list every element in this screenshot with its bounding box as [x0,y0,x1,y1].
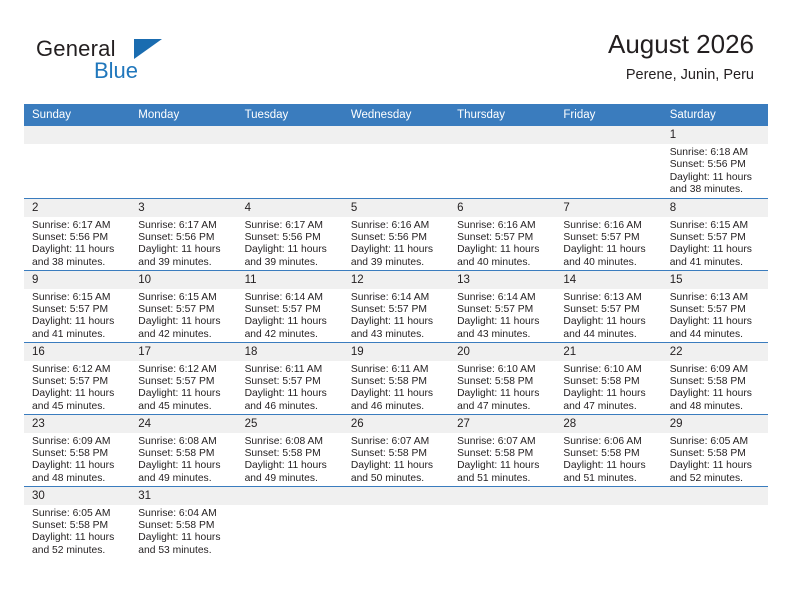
daylight-text-line1: Daylight: 11 hours [457,460,549,472]
page-header: General Blue August 2026 Perene, Junin, … [24,28,768,96]
calendar-cell-inner: 10Sunrise: 6:15 AMSunset: 5:57 PMDayligh… [130,271,236,342]
calendar-cell-inner: 21Sunrise: 6:10 AMSunset: 5:58 PMDayligh… [555,343,661,414]
calendar-cell-inner [237,487,343,559]
sunrise-text: Sunrise: 6:17 AM [138,220,230,232]
day-number: 30 [24,487,130,505]
daylight-text-line2: and 41 minutes. [32,329,124,341]
calendar-table: Sunday Monday Tuesday Wednesday Thursday… [24,104,768,558]
calendar-day-cell[interactable]: 5Sunrise: 6:16 AMSunset: 5:56 PMDaylight… [343,198,449,270]
day-details: Sunrise: 6:07 AMSunset: 5:58 PMDaylight:… [343,433,449,486]
day-details: Sunrise: 6:17 AMSunset: 5:56 PMDaylight:… [130,217,236,270]
calendar-cell-empty [237,486,343,558]
calendar-cell-empty [555,126,661,198]
daylight-text-line2: and 51 minutes. [563,473,655,485]
sunset-text: Sunset: 5:58 PM [670,376,762,388]
sunset-text: Sunset: 5:57 PM [32,304,124,316]
daylight-text-line1: Daylight: 11 hours [138,316,230,328]
day-number: 2 [24,199,130,217]
calendar-page: General Blue August 2026 Perene, Junin, … [0,0,792,612]
daylight-text-line1: Daylight: 11 hours [563,316,655,328]
day-details: Sunrise: 6:14 AMSunset: 5:57 PMDaylight:… [449,289,555,342]
calendar-cell-inner [555,487,661,559]
daylight-text-line1: Daylight: 11 hours [351,460,443,472]
calendar-day-cell[interactable]: 14Sunrise: 6:13 AMSunset: 5:57 PMDayligh… [555,270,661,342]
calendar-week-row: 30Sunrise: 6:05 AMSunset: 5:58 PMDayligh… [24,486,768,558]
sunset-text: Sunset: 5:57 PM [245,304,337,316]
sunset-text: Sunset: 5:57 PM [138,304,230,316]
daylight-text-line2: and 43 minutes. [457,329,549,341]
calendar-week-row: 2Sunrise: 6:17 AMSunset: 5:56 PMDaylight… [24,198,768,270]
sunset-text: Sunset: 5:56 PM [670,159,762,171]
day-details: Sunrise: 6:10 AMSunset: 5:58 PMDaylight:… [449,361,555,414]
calendar-day-cell[interactable]: 30Sunrise: 6:05 AMSunset: 5:58 PMDayligh… [24,486,130,558]
calendar-day-cell[interactable]: 21Sunrise: 6:10 AMSunset: 5:58 PMDayligh… [555,342,661,414]
calendar-cell-inner: 20Sunrise: 6:10 AMSunset: 5:58 PMDayligh… [449,343,555,414]
page-subtitle: Perene, Junin, Peru [608,64,754,86]
sunset-text: Sunset: 5:57 PM [457,232,549,244]
sunset-text: Sunset: 5:56 PM [351,232,443,244]
calendar-cell-inner: 30Sunrise: 6:05 AMSunset: 5:58 PMDayligh… [24,487,130,559]
calendar-day-cell[interactable]: 27Sunrise: 6:07 AMSunset: 5:58 PMDayligh… [449,414,555,486]
calendar-cell-inner: 3Sunrise: 6:17 AMSunset: 5:56 PMDaylight… [130,199,236,270]
day-details: Sunrise: 6:14 AMSunset: 5:57 PMDaylight:… [237,289,343,342]
day-number [449,487,555,505]
weekday-header-monday: Monday [130,104,236,126]
calendar-day-cell[interactable]: 28Sunrise: 6:06 AMSunset: 5:58 PMDayligh… [555,414,661,486]
sunset-text: Sunset: 5:56 PM [245,232,337,244]
daylight-text-line2: and 42 minutes. [138,329,230,341]
daylight-text-line2: and 51 minutes. [457,473,549,485]
title-block: August 2026 Perene, Junin, Peru [608,28,754,86]
daylight-text-line1: Daylight: 11 hours [670,172,762,184]
calendar-cell-inner: 5Sunrise: 6:16 AMSunset: 5:56 PMDaylight… [343,199,449,270]
sunset-text: Sunset: 5:56 PM [32,232,124,244]
calendar-cell-inner: 16Sunrise: 6:12 AMSunset: 5:57 PMDayligh… [24,343,130,414]
sunrise-text: Sunrise: 6:16 AM [457,220,549,232]
calendar-day-cell[interactable]: 8Sunrise: 6:15 AMSunset: 5:57 PMDaylight… [662,198,768,270]
calendar-cell-empty [662,486,768,558]
daylight-text-line2: and 47 minutes. [563,401,655,413]
calendar-week-row: 23Sunrise: 6:09 AMSunset: 5:58 PMDayligh… [24,414,768,486]
calendar-cell-inner: 28Sunrise: 6:06 AMSunset: 5:58 PMDayligh… [555,415,661,486]
day-number [343,487,449,505]
day-number: 16 [24,343,130,361]
day-number: 28 [555,415,661,433]
calendar-cell-inner: 25Sunrise: 6:08 AMSunset: 5:58 PMDayligh… [237,415,343,486]
sunset-text: Sunset: 5:57 PM [351,304,443,316]
calendar-day-cell[interactable]: 10Sunrise: 6:15 AMSunset: 5:57 PMDayligh… [130,270,236,342]
calendar-cell-inner: 26Sunrise: 6:07 AMSunset: 5:58 PMDayligh… [343,415,449,486]
day-number: 10 [130,271,236,289]
day-number: 17 [130,343,236,361]
daylight-text-line1: Daylight: 11 hours [138,244,230,256]
daylight-text-line1: Daylight: 11 hours [32,244,124,256]
day-details: Sunrise: 6:06 AMSunset: 5:58 PMDaylight:… [555,433,661,486]
day-number: 13 [449,271,555,289]
calendar-day-cell[interactable]: 25Sunrise: 6:08 AMSunset: 5:58 PMDayligh… [237,414,343,486]
daylight-text-line1: Daylight: 11 hours [670,388,762,400]
calendar-day-cell[interactable]: 4Sunrise: 6:17 AMSunset: 5:56 PMDaylight… [237,198,343,270]
day-number: 27 [449,415,555,433]
day-number [130,126,236,144]
daylight-text-line1: Daylight: 11 hours [457,316,549,328]
day-details: Sunrise: 6:16 AMSunset: 5:57 PMDaylight:… [555,217,661,270]
sunset-text: Sunset: 5:58 PM [457,376,549,388]
calendar-day-cell[interactable]: 29Sunrise: 6:05 AMSunset: 5:58 PMDayligh… [662,414,768,486]
day-number: 22 [662,343,768,361]
day-details: Sunrise: 6:11 AMSunset: 5:57 PMDaylight:… [237,361,343,414]
calendar-cell-inner [24,126,130,198]
daylight-text-line2: and 39 minutes. [138,257,230,269]
weekday-header-friday: Friday [555,104,661,126]
daylight-text-line2: and 48 minutes. [32,473,124,485]
calendar-day-cell[interactable]: 23Sunrise: 6:09 AMSunset: 5:58 PMDayligh… [24,414,130,486]
sunrise-text: Sunrise: 6:12 AM [32,364,124,376]
day-number: 19 [343,343,449,361]
weekday-header-wednesday: Wednesday [343,104,449,126]
sunrise-text: Sunrise: 6:04 AM [138,508,230,520]
calendar-body: 1Sunrise: 6:18 AMSunset: 5:56 PMDaylight… [24,126,768,558]
daylight-text-line1: Daylight: 11 hours [245,244,337,256]
day-details: Sunrise: 6:15 AMSunset: 5:57 PMDaylight:… [130,289,236,342]
sunset-text: Sunset: 5:57 PM [670,232,762,244]
calendar-day-cell[interactable]: 20Sunrise: 6:10 AMSunset: 5:58 PMDayligh… [449,342,555,414]
calendar-cell-inner: 2Sunrise: 6:17 AMSunset: 5:56 PMDaylight… [24,199,130,270]
day-number [24,126,130,144]
sunset-text: Sunset: 5:58 PM [138,520,230,532]
calendar-cell-inner: 15Sunrise: 6:13 AMSunset: 5:57 PMDayligh… [662,271,768,342]
day-details: Sunrise: 6:16 AMSunset: 5:57 PMDaylight:… [449,217,555,270]
sunset-text: Sunset: 5:58 PM [563,376,655,388]
day-details: Sunrise: 6:13 AMSunset: 5:57 PMDaylight:… [555,289,661,342]
calendar-cell-inner: 23Sunrise: 6:09 AMSunset: 5:58 PMDayligh… [24,415,130,486]
daylight-text-line2: and 53 minutes. [138,545,230,557]
calendar-cell-inner [449,126,555,198]
daylight-text-line2: and 40 minutes. [457,257,549,269]
calendar-cell-inner: 14Sunrise: 6:13 AMSunset: 5:57 PMDayligh… [555,271,661,342]
sunset-text: Sunset: 5:58 PM [563,448,655,460]
daylight-text-line1: Daylight: 11 hours [245,388,337,400]
daylight-text-line1: Daylight: 11 hours [351,244,443,256]
weekday-header-thursday: Thursday [449,104,555,126]
sunrise-text: Sunrise: 6:05 AM [670,436,762,448]
brand-name-blue: Blue [94,58,138,84]
daylight-text-line2: and 50 minutes. [351,473,443,485]
day-number: 18 [237,343,343,361]
sunrise-text: Sunrise: 6:08 AM [138,436,230,448]
day-details: Sunrise: 6:09 AMSunset: 5:58 PMDaylight:… [662,361,768,414]
sunset-text: Sunset: 5:57 PM [245,376,337,388]
sunset-text: Sunset: 5:56 PM [138,232,230,244]
daylight-text-line2: and 49 minutes. [138,473,230,485]
day-details: Sunrise: 6:13 AMSunset: 5:57 PMDaylight:… [662,289,768,342]
day-number: 7 [555,199,661,217]
calendar-cell-inner: 7Sunrise: 6:16 AMSunset: 5:57 PMDaylight… [555,199,661,270]
calendar-day-cell[interactable]: 2Sunrise: 6:17 AMSunset: 5:56 PMDaylight… [24,198,130,270]
sunrise-text: Sunrise: 6:17 AM [32,220,124,232]
calendar-day-cell[interactable]: 3Sunrise: 6:17 AMSunset: 5:56 PMDaylight… [130,198,236,270]
daylight-text-line2: and 39 minutes. [245,257,337,269]
day-number: 8 [662,199,768,217]
daylight-text-line2: and 46 minutes. [245,401,337,413]
sunrise-text: Sunrise: 6:18 AM [670,147,762,159]
daylight-text-line2: and 47 minutes. [457,401,549,413]
sunrise-text: Sunrise: 6:16 AM [351,220,443,232]
day-number [449,126,555,144]
sunrise-text: Sunrise: 6:15 AM [32,292,124,304]
calendar-day-cell[interactable]: 18Sunrise: 6:11 AMSunset: 5:57 PMDayligh… [237,342,343,414]
calendar-cell-inner: 18Sunrise: 6:11 AMSunset: 5:57 PMDayligh… [237,343,343,414]
daylight-text-line2: and 48 minutes. [670,401,762,413]
sunrise-text: Sunrise: 6:11 AM [351,364,443,376]
sunset-text: Sunset: 5:57 PM [563,232,655,244]
calendar-cell-inner: 24Sunrise: 6:08 AMSunset: 5:58 PMDayligh… [130,415,236,486]
calendar-day-cell[interactable]: 24Sunrise: 6:08 AMSunset: 5:58 PMDayligh… [130,414,236,486]
day-number: 4 [237,199,343,217]
day-number [237,487,343,505]
calendar-day-cell[interactable]: 1Sunrise: 6:18 AMSunset: 5:56 PMDaylight… [662,126,768,198]
sunrise-text: Sunrise: 6:09 AM [670,364,762,376]
daylight-text-line1: Daylight: 11 hours [245,316,337,328]
daylight-text-line1: Daylight: 11 hours [32,460,124,472]
calendar-cell-empty [449,126,555,198]
sunrise-text: Sunrise: 6:09 AM [32,436,124,448]
calendar-cell-empty [237,126,343,198]
sunrise-text: Sunrise: 6:10 AM [457,364,549,376]
sunset-text: Sunset: 5:58 PM [138,448,230,460]
calendar-cell-inner: 31Sunrise: 6:04 AMSunset: 5:58 PMDayligh… [130,487,236,559]
daylight-text-line2: and 52 minutes. [32,545,124,557]
daylight-text-line2: and 41 minutes. [670,257,762,269]
calendar-cell-inner: 27Sunrise: 6:07 AMSunset: 5:58 PMDayligh… [449,415,555,486]
calendar-day-cell[interactable]: 19Sunrise: 6:11 AMSunset: 5:58 PMDayligh… [343,342,449,414]
sunset-text: Sunset: 5:58 PM [457,448,549,460]
calendar-cell-inner: 9Sunrise: 6:15 AMSunset: 5:57 PMDaylight… [24,271,130,342]
sunset-text: Sunset: 5:58 PM [351,376,443,388]
weekday-header-tuesday: Tuesday [237,104,343,126]
day-details: Sunrise: 6:05 AMSunset: 5:58 PMDaylight:… [24,505,130,558]
day-details: Sunrise: 6:08 AMSunset: 5:58 PMDaylight:… [237,433,343,486]
sunrise-text: Sunrise: 6:15 AM [138,292,230,304]
sunrise-text: Sunrise: 6:14 AM [457,292,549,304]
day-number: 11 [237,271,343,289]
sunrise-text: Sunrise: 6:08 AM [245,436,337,448]
weekday-header-sunday: Sunday [24,104,130,126]
daylight-text-line1: Daylight: 11 hours [457,388,549,400]
day-details: Sunrise: 6:09 AMSunset: 5:58 PMDaylight:… [24,433,130,486]
daylight-text-line2: and 40 minutes. [563,257,655,269]
calendar-cell-inner: 29Sunrise: 6:05 AMSunset: 5:58 PMDayligh… [662,415,768,486]
calendar-cell-empty [343,126,449,198]
day-number [555,126,661,144]
daylight-text-line1: Daylight: 11 hours [457,244,549,256]
day-number [343,126,449,144]
calendar-day-cell[interactable]: 7Sunrise: 6:16 AMSunset: 5:57 PMDaylight… [555,198,661,270]
sunrise-text: Sunrise: 6:07 AM [351,436,443,448]
sunset-text: Sunset: 5:57 PM [138,376,230,388]
daylight-text-line1: Daylight: 11 hours [138,460,230,472]
calendar-day-cell[interactable]: 9Sunrise: 6:15 AMSunset: 5:57 PMDaylight… [24,270,130,342]
sunrise-text: Sunrise: 6:13 AM [670,292,762,304]
calendar-cell-inner: 4Sunrise: 6:17 AMSunset: 5:56 PMDaylight… [237,199,343,270]
calendar-cell-inner: 8Sunrise: 6:15 AMSunset: 5:57 PMDaylight… [662,199,768,270]
calendar-cell-inner [237,126,343,198]
day-details: Sunrise: 6:10 AMSunset: 5:58 PMDaylight:… [555,361,661,414]
daylight-text-line2: and 45 minutes. [138,401,230,413]
brand-logo[interactable]: General Blue [36,36,236,88]
daylight-text-line1: Daylight: 11 hours [670,460,762,472]
day-number: 1 [662,126,768,144]
calendar-cell-empty [343,486,449,558]
daylight-text-line1: Daylight: 11 hours [563,460,655,472]
calendar-day-cell[interactable]: 12Sunrise: 6:14 AMSunset: 5:57 PMDayligh… [343,270,449,342]
calendar-cell-inner: 22Sunrise: 6:09 AMSunset: 5:58 PMDayligh… [662,343,768,414]
daylight-text-line1: Daylight: 11 hours [138,388,230,400]
day-details: Sunrise: 6:05 AMSunset: 5:58 PMDaylight:… [662,433,768,486]
daylight-text-line2: and 43 minutes. [351,329,443,341]
daylight-text-line2: and 49 minutes. [245,473,337,485]
sunset-text: Sunset: 5:58 PM [32,448,124,460]
calendar-day-cell[interactable]: 15Sunrise: 6:13 AMSunset: 5:57 PMDayligh… [662,270,768,342]
day-details: Sunrise: 6:11 AMSunset: 5:58 PMDaylight:… [343,361,449,414]
day-number: 29 [662,415,768,433]
sunrise-text: Sunrise: 6:13 AM [563,292,655,304]
calendar-day-cell[interactable]: 26Sunrise: 6:07 AMSunset: 5:58 PMDayligh… [343,414,449,486]
sunset-text: Sunset: 5:58 PM [32,520,124,532]
sunrise-text: Sunrise: 6:15 AM [670,220,762,232]
sunrise-text: Sunrise: 6:05 AM [32,508,124,520]
calendar-cell-inner [662,487,768,559]
day-number: 20 [449,343,555,361]
calendar-day-cell[interactable]: 31Sunrise: 6:04 AMSunset: 5:58 PMDayligh… [130,486,236,558]
calendar-week-row: 1Sunrise: 6:18 AMSunset: 5:56 PMDaylight… [24,126,768,198]
calendar-cell-inner [343,126,449,198]
daylight-text-line1: Daylight: 11 hours [32,316,124,328]
calendar-day-cell[interactable]: 17Sunrise: 6:12 AMSunset: 5:57 PMDayligh… [130,342,236,414]
day-number: 26 [343,415,449,433]
sunset-text: Sunset: 5:57 PM [32,376,124,388]
calendar-cell-inner: 17Sunrise: 6:12 AMSunset: 5:57 PMDayligh… [130,343,236,414]
daylight-text-line2: and 44 minutes. [670,329,762,341]
daylight-text-line2: and 52 minutes. [670,473,762,485]
triangle-flag-icon [134,39,162,59]
sunrise-text: Sunrise: 6:06 AM [563,436,655,448]
day-number: 31 [130,487,236,505]
day-number: 14 [555,271,661,289]
day-details: Sunrise: 6:08 AMSunset: 5:58 PMDaylight:… [130,433,236,486]
daylight-text-line1: Daylight: 11 hours [138,532,230,544]
sunrise-text: Sunrise: 6:07 AM [457,436,549,448]
sunrise-text: Sunrise: 6:10 AM [563,364,655,376]
sunset-text: Sunset: 5:57 PM [670,304,762,316]
weekday-header-saturday: Saturday [662,104,768,126]
day-number: 25 [237,415,343,433]
calendar-cell-empty [130,126,236,198]
day-details: Sunrise: 6:17 AMSunset: 5:56 PMDaylight:… [237,217,343,270]
day-details: Sunrise: 6:04 AMSunset: 5:58 PMDaylight:… [130,505,236,558]
calendar-day-cell[interactable]: 16Sunrise: 6:12 AMSunset: 5:57 PMDayligh… [24,342,130,414]
daylight-text-line2: and 44 minutes. [563,329,655,341]
daylight-text-line2: and 38 minutes. [670,184,762,196]
calendar-week-row: 9Sunrise: 6:15 AMSunset: 5:57 PMDaylight… [24,270,768,342]
day-number [662,487,768,505]
sunset-text: Sunset: 5:57 PM [457,304,549,316]
day-details: Sunrise: 6:07 AMSunset: 5:58 PMDaylight:… [449,433,555,486]
calendar-cell-empty [555,486,661,558]
day-number [555,487,661,505]
daylight-text-line1: Daylight: 11 hours [245,460,337,472]
daylight-text-line1: Daylight: 11 hours [32,388,124,400]
daylight-text-line1: Daylight: 11 hours [563,388,655,400]
daylight-text-line2: and 45 minutes. [32,401,124,413]
calendar-week-row: 16Sunrise: 6:12 AMSunset: 5:57 PMDayligh… [24,342,768,414]
sunrise-text: Sunrise: 6:17 AM [245,220,337,232]
day-number: 15 [662,271,768,289]
day-number: 24 [130,415,236,433]
daylight-text-line2: and 46 minutes. [351,401,443,413]
sunrise-text: Sunrise: 6:16 AM [563,220,655,232]
day-details: Sunrise: 6:17 AMSunset: 5:56 PMDaylight:… [24,217,130,270]
calendar-cell-inner: 6Sunrise: 6:16 AMSunset: 5:57 PMDaylight… [449,199,555,270]
day-number: 6 [449,199,555,217]
calendar-cell-empty [449,486,555,558]
day-number [237,126,343,144]
calendar-cell-inner: 13Sunrise: 6:14 AMSunset: 5:57 PMDayligh… [449,271,555,342]
sunset-text: Sunset: 5:58 PM [351,448,443,460]
daylight-text-line1: Daylight: 11 hours [670,244,762,256]
day-number: 23 [24,415,130,433]
day-number: 12 [343,271,449,289]
sunrise-text: Sunrise: 6:11 AM [245,364,337,376]
calendar-day-cell[interactable]: 22Sunrise: 6:09 AMSunset: 5:58 PMDayligh… [662,342,768,414]
sunset-text: Sunset: 5:58 PM [670,448,762,460]
day-details: Sunrise: 6:16 AMSunset: 5:56 PMDaylight:… [343,217,449,270]
day-details: Sunrise: 6:18 AMSunset: 5:56 PMDaylight:… [662,144,768,197]
calendar-cell-inner [130,126,236,198]
calendar-cell-inner: 11Sunrise: 6:14 AMSunset: 5:57 PMDayligh… [237,271,343,342]
day-details: Sunrise: 6:14 AMSunset: 5:57 PMDaylight:… [343,289,449,342]
day-details: Sunrise: 6:12 AMSunset: 5:57 PMDaylight:… [24,361,130,414]
calendar-cell-inner [343,487,449,559]
daylight-text-line1: Daylight: 11 hours [670,316,762,328]
calendar-cell-inner: 12Sunrise: 6:14 AMSunset: 5:57 PMDayligh… [343,271,449,342]
calendar-day-cell[interactable]: 11Sunrise: 6:14 AMSunset: 5:57 PMDayligh… [237,270,343,342]
calendar-cell-inner: 1Sunrise: 6:18 AMSunset: 5:56 PMDaylight… [662,126,768,198]
calendar-cell-inner: 19Sunrise: 6:11 AMSunset: 5:58 PMDayligh… [343,343,449,414]
day-details: Sunrise: 6:15 AMSunset: 5:57 PMDaylight:… [662,217,768,270]
page-title: August 2026 [608,28,754,60]
day-number: 5 [343,199,449,217]
sunrise-text: Sunrise: 6:14 AM [245,292,337,304]
sunrise-text: Sunrise: 6:14 AM [351,292,443,304]
day-details: Sunrise: 6:15 AMSunset: 5:57 PMDaylight:… [24,289,130,342]
daylight-text-line1: Daylight: 11 hours [351,388,443,400]
calendar-header-row: Sunday Monday Tuesday Wednesday Thursday… [24,104,768,126]
daylight-text-line1: Daylight: 11 hours [563,244,655,256]
daylight-text-line2: and 39 minutes. [351,257,443,269]
sunset-text: Sunset: 5:58 PM [245,448,337,460]
sunrise-text: Sunrise: 6:12 AM [138,364,230,376]
calendar-day-cell[interactable]: 6Sunrise: 6:16 AMSunset: 5:57 PMDaylight… [449,198,555,270]
calendar-day-cell[interactable]: 13Sunrise: 6:14 AMSunset: 5:57 PMDayligh… [449,270,555,342]
daylight-text-line2: and 38 minutes. [32,257,124,269]
calendar-cell-inner [555,126,661,198]
daylight-text-line2: and 42 minutes. [245,329,337,341]
day-number: 9 [24,271,130,289]
sunset-text: Sunset: 5:57 PM [563,304,655,316]
daylight-text-line1: Daylight: 11 hours [32,532,124,544]
calendar-cell-inner [449,487,555,559]
